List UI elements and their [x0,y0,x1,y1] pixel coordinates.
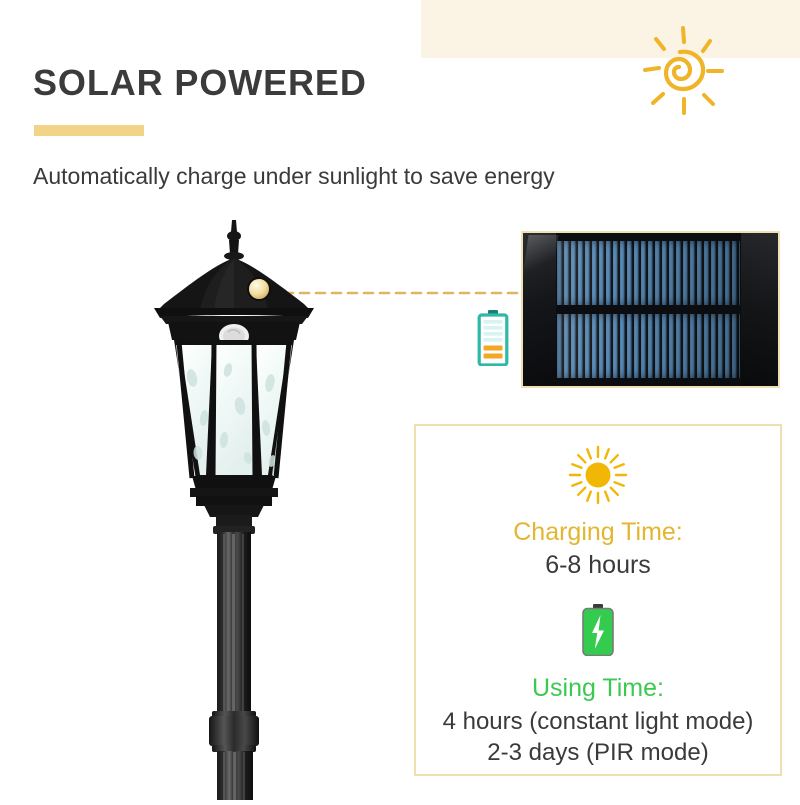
panel-frame-left [523,233,556,386]
panel-glint [521,235,558,285]
panel-cell-row-bottom [557,314,740,378]
charging-time-value: 6-8 hours [545,550,651,580]
panel-cells [557,241,740,378]
panel-cell-row-top [557,241,740,305]
solar-lamp-post [120,218,350,800]
header-cream-block [421,0,800,58]
charging-time-label: Charging Time: [513,518,683,547]
using-time-value-line2: 2-3 days (PIR mode) [487,737,708,769]
panel-cell-shade [557,241,740,305]
page-title: SOLAR POWERED [33,62,367,104]
battery-charging-icon [581,604,615,656]
sun-icon [567,444,629,506]
hand-drawn-sun-icon [618,8,736,126]
panel-cell-shade [557,314,740,378]
charging-battery-icon [477,310,509,366]
solar-panel-photo [521,231,780,388]
using-time-value-line1: 4 hours (constant light mode) [443,706,754,738]
page-subtitle: Automatically charge under sunlight to s… [33,163,555,190]
specs-card: Charging Time: 6-8 hours Using Time: 4 h… [414,424,782,776]
title-accent-bar [34,125,144,136]
using-time-label: Using Time: [532,674,664,703]
infographic-canvas: SOLAR POWERED Automatically charge under… [0,0,800,800]
panel-frame-right [741,233,778,386]
